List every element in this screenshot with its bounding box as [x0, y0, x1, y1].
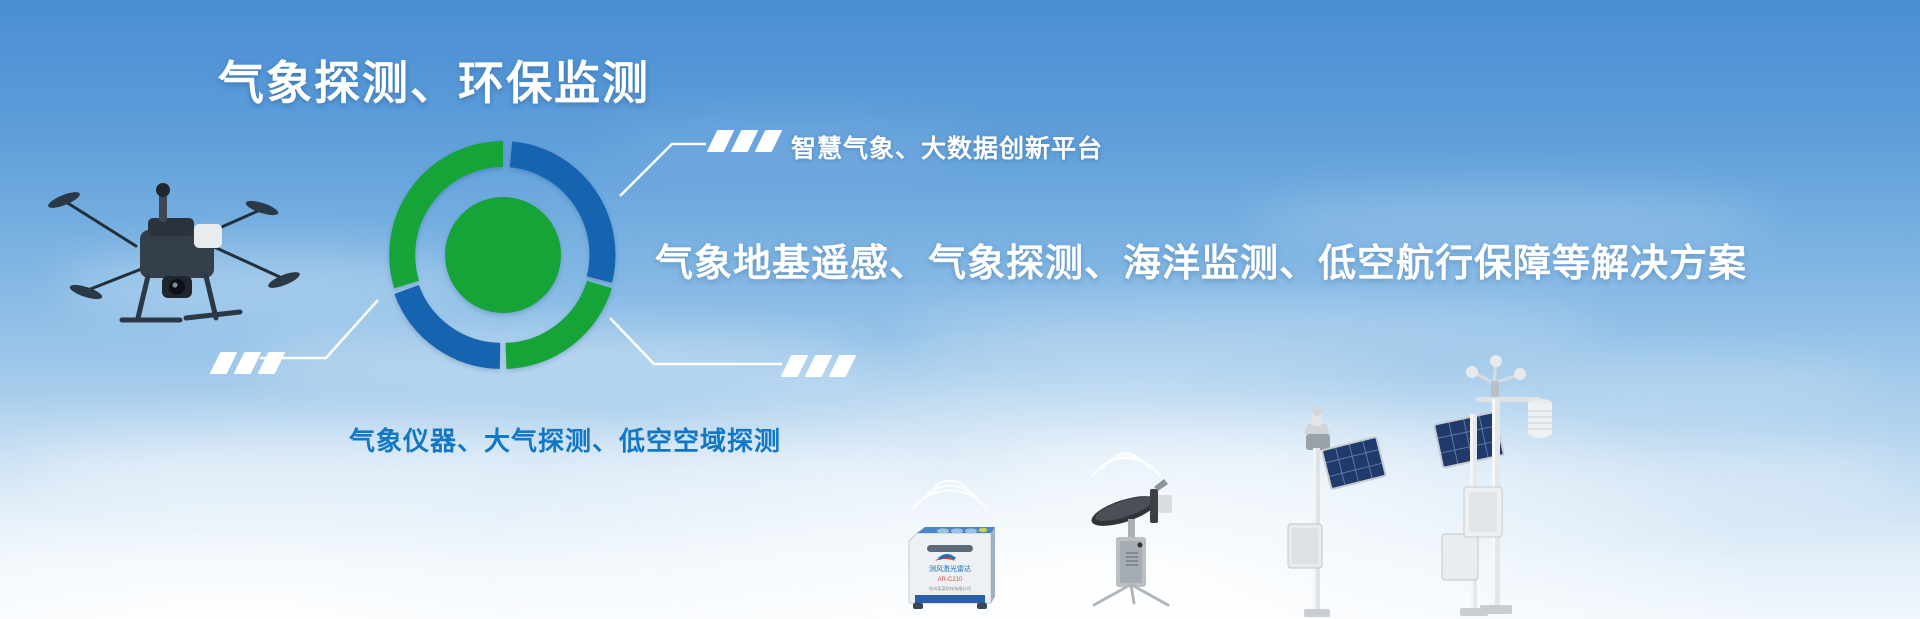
- callout-smart-meteorology: 智慧气象、大数据创新平台: [791, 129, 1103, 165]
- cloud-wisp: [900, 300, 1600, 355]
- ring-graphic: [388, 140, 618, 370]
- slash-accent-bottom-right: [786, 355, 851, 377]
- automatic-weather-station: [1456, 359, 1586, 619]
- solar-weather-station: [1278, 404, 1398, 619]
- callout-solutions: 气象地基遥感、气象探测、海洋监测、低空航行保障等解决方案: [655, 232, 1747, 287]
- wind-lidar-device: 测风激光雷达 AR-C210 杭州某某科技有限公司: [895, 505, 1005, 615]
- weather-detection-banner: 气象探测、环保监测 智慧气象、大数据创新平台 气象: [0, 0, 1920, 619]
- ring-core-circle: [445, 197, 561, 313]
- lidar-maker: 杭州某某科技有限公司: [929, 585, 971, 592]
- radar-dish-tripod: [1072, 469, 1192, 609]
- slash-accent-bottom-left: [215, 352, 280, 374]
- drone-uav-icon: [44, 150, 304, 340]
- slash-accent-top: [712, 130, 777, 152]
- page-title: 气象探测、环保监测: [218, 47, 650, 113]
- lidar-model: AR-C210: [938, 577, 963, 583]
- callout-instruments: 气象仪器、大气探测、低空空域探测: [349, 421, 781, 458]
- lidar-label: 测风激光雷达: [929, 564, 971, 573]
